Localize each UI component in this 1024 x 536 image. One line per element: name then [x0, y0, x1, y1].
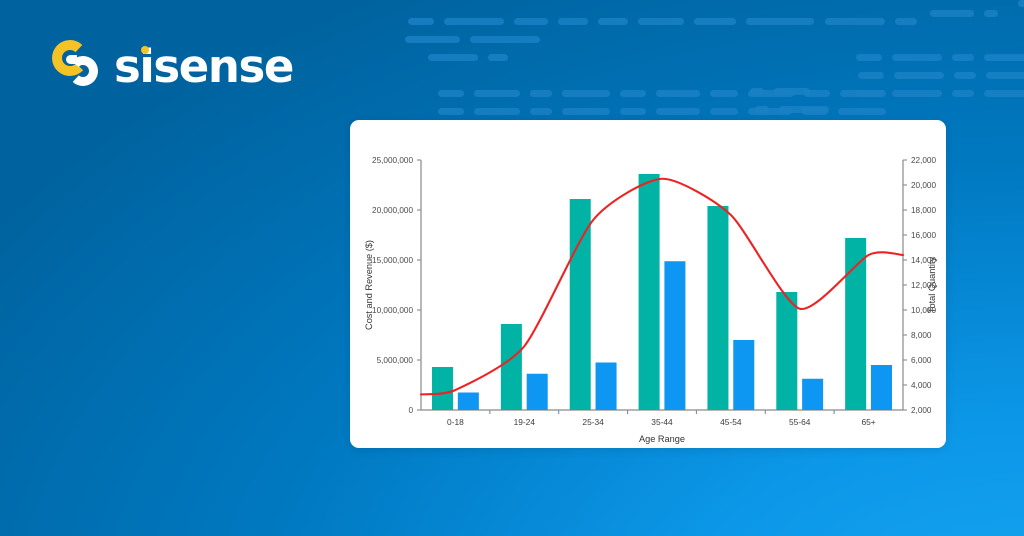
y-axis-title: Cost and Revenue ($): [364, 240, 374, 330]
category-label-19-24: 19-24: [514, 417, 536, 427]
code-pattern-bar: [984, 54, 1024, 61]
code-pattern-bar: [895, 18, 917, 25]
y2-axis-ticks: 2,0004,0006,0008,00010,00012,00014,00016…: [903, 156, 936, 415]
code-pattern-bar: [774, 88, 810, 95]
code-pattern-bar: [408, 18, 434, 25]
y2-tick-label: 22,000: [911, 156, 936, 165]
code-pattern-bar: [930, 10, 974, 17]
category-label-55-64: 55-64: [789, 417, 811, 427]
y-tick-label: 15,000,000: [372, 256, 413, 265]
bar-cost-55-64[interactable]: [776, 292, 797, 410]
category-labels: 0-1819-2425-3435-4445-5455-6465+: [447, 417, 876, 427]
code-pattern-bar: [488, 54, 508, 61]
code-pattern-bar: [444, 18, 504, 25]
code-pattern-bar: [474, 90, 520, 97]
bar-revenue-19-24[interactable]: [527, 374, 548, 410]
code-pattern-bar: [530, 90, 552, 97]
y2-tick-label: 10,000: [911, 306, 936, 315]
y2-tick-label: 12,000: [911, 281, 936, 290]
code-pattern-bar: [986, 72, 1024, 79]
x-axis-title: Age Range: [639, 434, 685, 444]
category-label-0-18: 0-18: [447, 417, 464, 427]
code-pattern-bar: [779, 106, 829, 113]
code-pattern-bar: [1018, 0, 1024, 7]
code-pattern-bar: [428, 54, 478, 61]
code-pattern-bar: [694, 18, 736, 25]
code-pattern-bar: [838, 108, 886, 115]
y-axis-ticks: 05,000,00010,000,00015,000,00020,000,000…: [372, 156, 421, 415]
code-pattern-bar: [892, 90, 942, 97]
code-pattern-bar: [954, 72, 976, 79]
code-pattern-bar: [656, 90, 700, 97]
code-pattern-bar: [514, 18, 548, 25]
code-pattern-bar: [755, 106, 769, 113]
code-pattern-bar: [562, 108, 610, 115]
code-pattern-bar: [656, 108, 700, 115]
y2-tick-label: 8,000: [911, 331, 932, 340]
logo-s-arc-icon: [67, 55, 98, 86]
code-pattern-bar: [530, 108, 552, 115]
code-pattern-bar: [438, 90, 464, 97]
code-pattern-bar: [710, 108, 738, 115]
bar-series-group: [432, 174, 892, 410]
code-pattern-bar: [750, 88, 764, 95]
bar-revenue-35-44[interactable]: [664, 261, 685, 410]
code-pattern-bar: [438, 108, 464, 115]
y2-tick-label: 16,000: [911, 231, 936, 240]
code-pattern-bar: [894, 72, 944, 79]
code-pattern-bar: [474, 108, 520, 115]
code-pattern-bar: [558, 18, 588, 25]
y-tick-label: 5,000,000: [377, 356, 414, 365]
logo-i-dot-icon: [141, 46, 149, 54]
code-pattern-bar: [856, 90, 882, 97]
code-pattern-bar: [858, 72, 884, 79]
category-label-45-54: 45-54: [720, 417, 742, 427]
bar-cost-65+[interactable]: [845, 238, 866, 410]
line-total-quantity[interactable]: [421, 179, 903, 395]
category-label-35-44: 35-44: [651, 417, 673, 427]
category-label-65+: 65+: [861, 417, 875, 427]
logo-wordmark: sisense: [114, 44, 293, 89]
bar-revenue-55-64[interactable]: [802, 379, 823, 410]
category-label-25-34: 25-34: [582, 417, 604, 427]
code-pattern-bar: [892, 54, 942, 61]
sisense-logo-mark-icon: [52, 38, 104, 94]
bar-revenue-45-54[interactable]: [733, 340, 754, 410]
combo-chart: Cost and Revenue ($) Total Quantity Age …: [350, 120, 946, 448]
code-pattern-bar: [746, 18, 814, 25]
y-tick-label: 25,000,000: [372, 156, 413, 165]
code-pattern-bar: [470, 36, 540, 43]
y-tick-label: 20,000,000: [372, 206, 413, 215]
code-pattern-bar: [984, 90, 1024, 97]
bar-cost-35-44[interactable]: [639, 174, 660, 410]
code-pattern-bar: [405, 36, 460, 43]
y2-tick-label: 6,000: [911, 356, 932, 365]
code-pattern-bar: [952, 90, 974, 97]
y2-tick-label: 18,000: [911, 206, 936, 215]
bar-revenue-0-18[interactable]: [458, 393, 479, 411]
y2-tick-label: 2,000: [911, 406, 932, 415]
y-tick-label: 10,000,000: [372, 306, 413, 315]
code-pattern-bar: [710, 90, 738, 97]
code-pattern-bar: [598, 18, 628, 25]
sisense-logo: sisense: [52, 38, 293, 94]
line-series-group: [421, 179, 903, 395]
code-pattern-bar: [856, 54, 882, 61]
chart-card: Cost and Revenue ($) Total Quantity Age …: [350, 120, 946, 448]
bar-revenue-65+[interactable]: [871, 365, 892, 410]
bar-cost-25-34[interactable]: [570, 199, 591, 410]
y2-tick-label: 20,000: [911, 181, 936, 190]
code-pattern-bar: [562, 90, 610, 97]
code-pattern-bar: [620, 90, 646, 97]
y2-tick-label: 14,000: [911, 256, 936, 265]
bar-cost-19-24[interactable]: [501, 324, 522, 410]
bar-cost-45-54[interactable]: [707, 206, 728, 410]
code-pattern-bar: [984, 10, 998, 17]
code-pattern-bar: [825, 18, 885, 25]
bar-revenue-25-34[interactable]: [596, 363, 617, 411]
bar-cost-0-18[interactable]: [432, 367, 453, 410]
code-pattern-bar: [638, 18, 684, 25]
code-pattern-bar: [952, 54, 974, 61]
y2-tick-label: 4,000: [911, 381, 932, 390]
banner-background: sisense Cost and Revenue ($) Total Quant…: [0, 0, 1024, 536]
y-tick-label: 0: [408, 406, 413, 415]
code-pattern-bar: [620, 108, 646, 115]
